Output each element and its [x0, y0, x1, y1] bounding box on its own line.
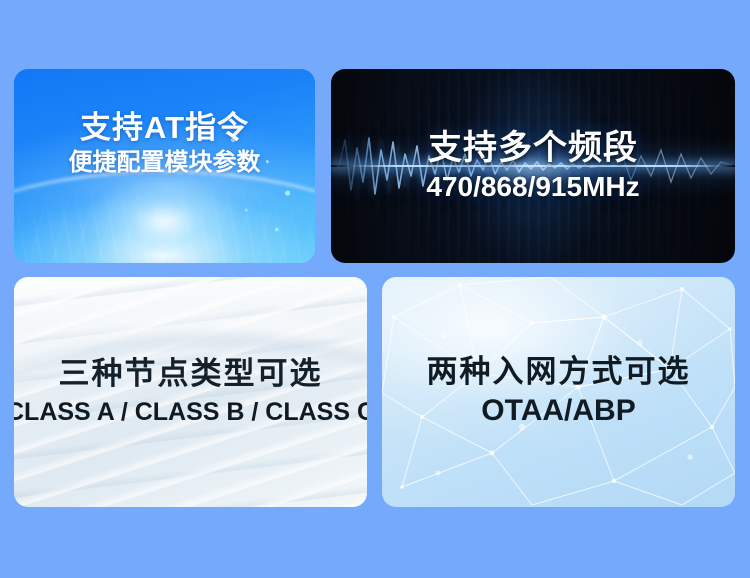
- feature-card-join-modes-headline: 两种入网方式可选: [427, 355, 691, 390]
- feature-card-at-command-content: 支持AT指令 便捷配置模块参数: [14, 69, 315, 263]
- feature-card-at-command-subline: 便捷配置模块参数: [69, 149, 261, 177]
- feature-card-frequency-bands-headline: 支持多个频段: [428, 129, 638, 167]
- feature-card-node-classes-headline: 三种节点类型可选: [59, 357, 323, 392]
- product-feature-banner: 支持AT指令 便捷配置模块参数: [0, 0, 750, 578]
- feature-card-node-classes[interactable]: 三种节点类型可选 CLASS A / CLASS B / CLASS C: [14, 277, 367, 507]
- feature-card-join-modes[interactable]: 两种入网方式可选 OTAA/ABP: [382, 277, 735, 507]
- feature-card-join-modes-content: 两种入网方式可选 OTAA/ABP: [382, 277, 735, 507]
- feature-card-frequency-bands-content: 支持多个频段 470/868/915MHz: [331, 69, 735, 263]
- feature-card-join-modes-subline: OTAA/ABP: [481, 394, 635, 429]
- feature-card-frequency-bands-subline: 470/868/915MHz: [426, 171, 639, 203]
- feature-card-frequency-bands[interactable]: 支持多个频段 470/868/915MHz: [331, 69, 735, 263]
- feature-card-node-classes-subline: CLASS A / CLASS B / CLASS C: [14, 398, 367, 427]
- feature-card-at-command-headline: 支持AT指令: [80, 111, 249, 146]
- feature-card-at-command[interactable]: 支持AT指令 便捷配置模块参数: [14, 69, 315, 263]
- feature-card-node-classes-content: 三种节点类型可选 CLASS A / CLASS B / CLASS C: [14, 277, 367, 507]
